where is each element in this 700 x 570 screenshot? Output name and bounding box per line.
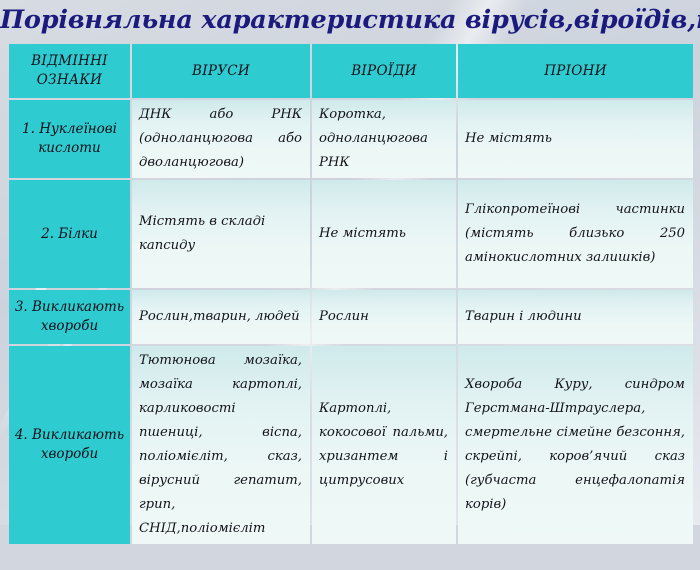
table-body: 1. Нуклеїнові кислоти ДНК або РНК (однол… <box>9 100 693 544</box>
row-header-diseases-list: 4. Викликають хвороби <box>9 346 130 544</box>
row-header-proteins-label: 2. Білки <box>9 223 130 246</box>
cell-prions-diseases-list: Хвороба Куру, синдром Герстмана-Штраусле… <box>458 346 693 544</box>
table-header: ВІДМІННІ ОЗНАКИ ВІРУСИ ВІРОЇДИ ПРІОНИ <box>9 44 693 98</box>
table-row: 1. Нуклеїнові кислоти ДНК або РНК (однол… <box>9 100 693 178</box>
cell-viroids-diseases-hosts-text: Рослин <box>312 302 456 332</box>
row-header-diseases-hosts-label: 3. Викликають хвороби <box>9 296 130 338</box>
cell-viroids-nucleic-acids-text: Коротка, одноланцюгова РНК <box>312 100 456 178</box>
cell-viruses-proteins-text: Містять в складі капсиду <box>132 207 310 261</box>
column-header-viroids-label: ВІРОЇДИ <box>312 60 456 83</box>
cell-prions-diseases-list-text: Хвороба Куру, синдром Герстмана-Штраусле… <box>458 370 693 520</box>
cell-viroids-proteins-text: Не містять <box>312 219 456 249</box>
comparison-table: ВІДМІННІ ОЗНАКИ ВІРУСИ ВІРОЇДИ ПРІОНИ 1.… <box>7 42 695 546</box>
row-header-diseases-hosts: 3. Викликають хвороби <box>9 290 130 344</box>
cell-viruses-diseases-hosts: Рослин,тварин, людей <box>132 290 310 344</box>
table-header-row: ВІДМІННІ ОЗНАКИ ВІРУСИ ВІРОЇДИ ПРІОНИ <box>9 44 693 98</box>
column-header-viruses: ВІРУСИ <box>132 44 310 98</box>
cell-viruses-proteins: Містять в складі капсиду <box>132 180 310 288</box>
cell-viroids-proteins: Не містять <box>312 180 456 288</box>
table-row: 2. Білки Містять в складі капсиду Не міс… <box>9 180 693 288</box>
cell-viruses-diseases-list-text: Тютюнова мозаїка, мозаїка картоплі, карл… <box>132 346 310 544</box>
cell-viroids-diseases-list-text: Картоплі, кокосової пальми, хризантем і … <box>312 394 456 496</box>
table-row: 4. Викликають хвороби Тютюнова мозаїка, … <box>9 346 693 544</box>
cell-prions-proteins: Глікопротеїнові частинки (містять близьк… <box>458 180 693 288</box>
column-header-prions-label: ПРІОНИ <box>458 60 693 83</box>
column-header-viruses-label: ВІРУСИ <box>132 60 310 83</box>
row-header-proteins: 2. Білки <box>9 180 130 288</box>
cell-prions-nucleic-acids-text: Не містять <box>458 124 693 154</box>
page-title: Порівняльна характеристика вірусів,вірої… <box>0 2 700 38</box>
row-header-diseases-list-label: 4. Викликають хвороби <box>9 424 130 466</box>
column-header-viroids: ВІРОЇДИ <box>312 44 456 98</box>
cell-viroids-nucleic-acids: Коротка, одноланцюгова РНК <box>312 100 456 178</box>
table-row: 3. Викликають хвороби Рослин,тварин, люд… <box>9 290 693 344</box>
cell-viruses-diseases-list: Тютюнова мозаїка, мозаїка картоплі, карл… <box>132 346 310 544</box>
row-header-nucleic-acids: 1. Нуклеїнові кислоти <box>9 100 130 178</box>
cell-viruses-nucleic-acids: ДНК або РНК (одноланцюгова або дволанцюг… <box>132 100 310 178</box>
column-header-features-label: ВІДМІННІ ОЗНАКИ <box>9 50 130 92</box>
cell-prions-nucleic-acids: Не містять <box>458 100 693 178</box>
cell-prions-diseases-hosts-text: Тварин і людини <box>458 302 693 332</box>
cell-prions-proteins-text: Глікопротеїнові частинки (містять близьк… <box>458 195 693 273</box>
column-header-prions: ПРІОНИ <box>458 44 693 98</box>
cell-prions-diseases-hosts: Тварин і людини <box>458 290 693 344</box>
cell-viroids-diseases-list: Картоплі, кокосової пальми, хризантем і … <box>312 346 456 544</box>
cell-viruses-nucleic-acids-text: ДНК або РНК (одноланцюгова або дволанцюг… <box>132 100 310 178</box>
column-header-features: ВІДМІННІ ОЗНАКИ <box>9 44 130 98</box>
cell-viruses-diseases-hosts-text: Рослин,тварин, людей <box>132 302 310 332</box>
row-header-nucleic-acids-label: 1. Нуклеїнові кислоти <box>9 118 130 160</box>
cell-viroids-diseases-hosts: Рослин <box>312 290 456 344</box>
